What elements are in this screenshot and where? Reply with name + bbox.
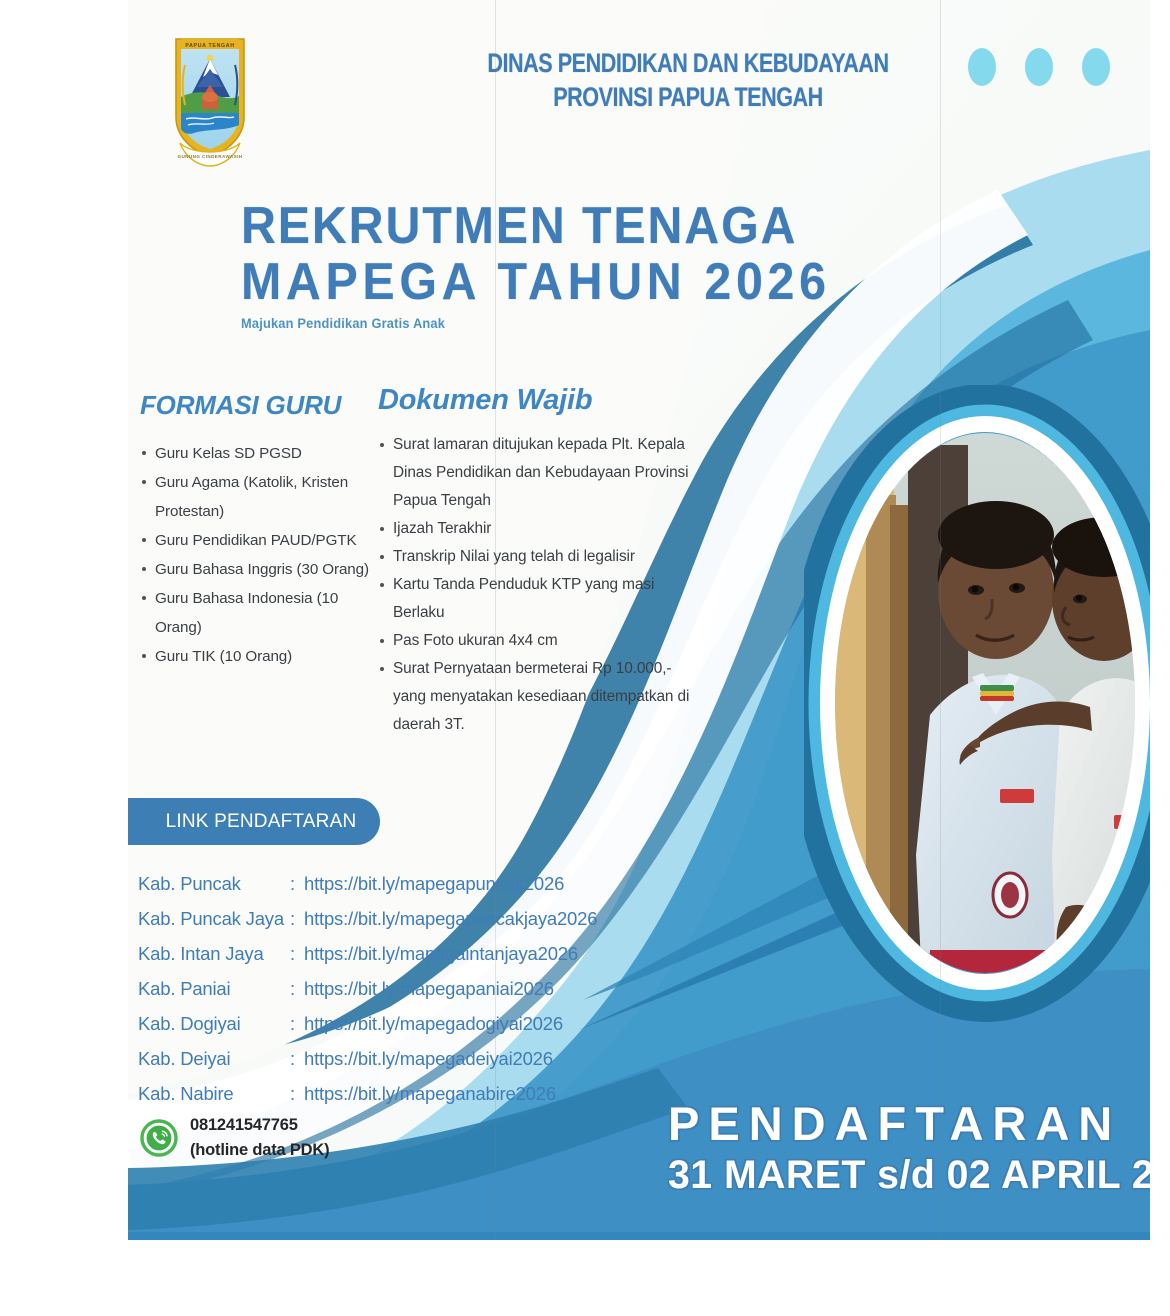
contact-text: 081241547765 (hotline data PDK) <box>190 1113 329 1163</box>
registration-url[interactable]: https://bit.ly/mapegapuncak2026 <box>304 866 564 901</box>
poster-title-block: REKRUTMEN TENAGA MAPEGA TAHUN 2026 Majuk… <box>241 198 875 331</box>
header-dot-1 <box>968 48 996 86</box>
registration-url[interactable]: https://bit.ly/mapegaintanjaya2026 <box>304 936 578 971</box>
list-item: Guru Bahasa Indonesia (10 Orang) <box>140 584 380 642</box>
list-item: Guru Kelas SD PGSD <box>140 439 380 468</box>
logo-svg: PAPUA TENGAH <box>166 25 254 170</box>
poster-title-line2: MAPEGA TAHUN 2026 <box>241 254 831 310</box>
table-row[interactable]: Kab. Puncak : https://bit.ly/mapegapunca… <box>138 866 597 901</box>
list-item: Transkrip Nilai yang telah di legalisir <box>378 543 708 571</box>
dokumen-wajib-section: Dokumen Wajib Surat lamaran ditujukan ke… <box>378 384 708 739</box>
contact-block: 081241547765 (hotline data PDK) <box>140 1113 329 1163</box>
header-dot-2 <box>1025 48 1053 86</box>
list-item: Guru Bahasa Inggris (30 Orang) <box>140 555 380 584</box>
table-row[interactable]: Kab. Puncak Jaya : https://bit.ly/mapega… <box>138 901 597 936</box>
pendaftaran-date-range: 31 MARET s/d 02 APRIL 2026 <box>668 1152 1138 1198</box>
link-pendaftaran-badge: LINK PENDAFTARAN <box>128 798 380 845</box>
header-decorative-dots <box>968 48 1110 86</box>
kabupaten-name: Kab. Puncak Jaya <box>138 901 290 936</box>
list-item: Kartu Tanda Penduduk KTP yang masi Berla… <box>378 571 708 627</box>
pendaftaran-title: PENDAFTARAN <box>668 1098 1148 1150</box>
separator: : <box>290 936 304 971</box>
list-item: Ijazah Terakhir <box>378 515 708 543</box>
registration-url[interactable]: https://bit.ly/mapegapaniai2026 <box>304 971 554 1006</box>
dokumen-wajib-heading: Dokumen Wajib <box>378 384 708 417</box>
poster: PAPUA TENGAH <box>128 0 1150 1240</box>
registration-url[interactable]: https://bit.ly/mapegadogiyai2026 <box>304 1006 563 1041</box>
formasi-guru-section: FORMASI GURU Guru Kelas SD PGSD Guru Aga… <box>140 390 380 671</box>
scan-bottom-edge <box>128 1239 1150 1240</box>
dokumen-wajib-list: Surat lamaran ditujukan kepada Plt. Kepa… <box>378 431 708 739</box>
list-item: Surat Pernyataan bermeterai Rp 10.000,- … <box>378 655 708 739</box>
registration-url[interactable]: https://bit.ly/mapegadeiyai2026 <box>304 1041 553 1076</box>
kabupaten-name: Kab. Deiyai <box>138 1041 290 1076</box>
table-row[interactable]: Kab. Dogiyai : https://bit.ly/mapegadogi… <box>138 1006 597 1041</box>
separator: : <box>290 1041 304 1076</box>
kabupaten-name: Kab. Intan Jaya <box>138 936 290 971</box>
registration-links-table: Kab. Puncak : https://bit.ly/mapegapunca… <box>138 866 597 1111</box>
separator: : <box>290 1006 304 1041</box>
separator: : <box>290 901 304 936</box>
poster-title-line1: REKRUTMEN TENAGA <box>241 198 831 254</box>
list-item: Guru Pendidikan PAUD/PGTK <box>140 526 380 555</box>
kabupaten-name: Kab. Dogiyai <box>138 1006 290 1041</box>
separator: : <box>290 1076 304 1111</box>
pendaftaran-date-block: PENDAFTARAN 31 MARET s/d 02 APRIL 2026 <box>668 1098 1148 1198</box>
table-row[interactable]: Kab. Nabire : https://bit.ly/mapeganabir… <box>138 1076 597 1111</box>
formasi-guru-heading: FORMASI GURU <box>140 390 380 421</box>
whatsapp-icon-svg <box>140 1119 178 1157</box>
svg-text:GUNUNG CINDERAWASIH: GUNUNG CINDERAWASIH <box>177 154 242 159</box>
registration-url[interactable]: https://bit.ly/mapeganabire2026 <box>304 1076 556 1111</box>
header-dot-3 <box>1082 48 1110 86</box>
list-item: Surat lamaran ditujukan kepada Plt. Kepa… <box>378 431 708 515</box>
registration-url[interactable]: https://bit.ly/mapegapuncakjaya2026 <box>304 901 597 936</box>
whatsapp-icon[interactable] <box>140 1119 178 1157</box>
papua-tengah-coat-of-arms-icon: PAPUA TENGAH <box>166 25 254 170</box>
formasi-guru-list: Guru Kelas SD PGSD Guru Agama (Katolik, … <box>140 439 380 671</box>
table-row[interactable]: Kab. Deiyai : https://bit.ly/mapegadeiya… <box>138 1041 597 1076</box>
organization-title-line2: PROVINSI PAPUA TENGAH <box>480 80 896 114</box>
photo-svg <box>804 385 1150 1085</box>
separator: : <box>290 866 304 901</box>
organization-title: DINAS PENDIDIKAN DAN KEBUDAYAAN PROVINSI… <box>480 46 896 114</box>
list-item: Guru TIK (10 Orang) <box>140 642 380 671</box>
table-row[interactable]: Kab. Paniai : https://bit.ly/mapegapania… <box>138 971 597 1006</box>
poster-title-subtitle: Majukan Pendidikan Gratis Anak <box>241 316 843 331</box>
organization-title-line1: DINAS PENDIDIKAN DAN KEBUDAYAAN <box>480 46 896 80</box>
contact-note: (hotline data PDK) <box>190 1138 329 1163</box>
student-photo-frame <box>804 385 1150 1085</box>
kabupaten-name: Kab. Nabire <box>138 1076 290 1111</box>
separator: : <box>290 971 304 1006</box>
contact-phone: 081241547765 <box>190 1113 329 1138</box>
link-pendaftaran-badge-label: LINK PENDAFTARAN <box>152 811 357 833</box>
kabupaten-name: Kab. Puncak <box>138 866 290 901</box>
list-item: Guru Agama (Katolik, Kristen Protestan) <box>140 468 380 526</box>
kabupaten-name: Kab. Paniai <box>138 971 290 1006</box>
table-row[interactable]: Kab. Intan Jaya : https://bit.ly/mapegai… <box>138 936 597 971</box>
poster-header: PAPUA TENGAH <box>128 0 1150 180</box>
svg-text:PAPUA TENGAH: PAPUA TENGAH <box>185 43 234 49</box>
list-item: Pas Foto ukuran 4x4 cm <box>378 627 708 655</box>
